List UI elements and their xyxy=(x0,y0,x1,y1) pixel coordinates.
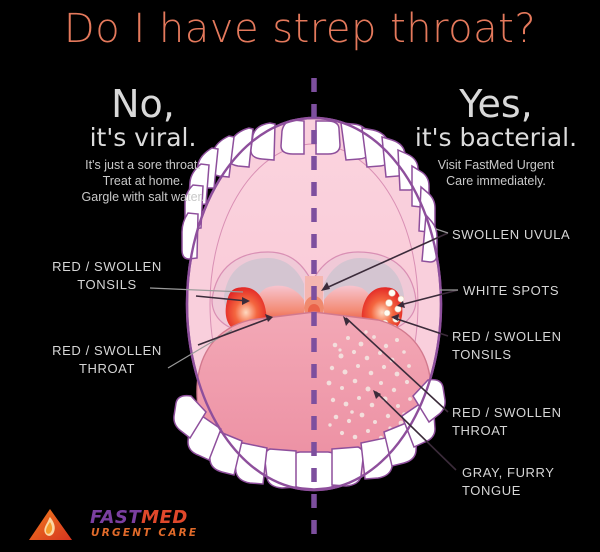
fastmed-tagline: URGENT CARE xyxy=(91,528,198,539)
callout-label-right-tonsils: RED / SWOLLEN TONSILS xyxy=(452,328,600,363)
callout-label-right-throat: RED / SWOLLEN THROAT xyxy=(452,404,600,439)
callout-label-swollen-uvula: SWOLLEN UVULA xyxy=(452,226,600,244)
callout-label-left-tonsils: RED / SWOLLEN TONSILS xyxy=(22,258,192,293)
verdict-viral-detail-1: It's just a sore throat. xyxy=(38,157,248,173)
fastmed-word-med: MED xyxy=(141,507,188,528)
verdict-viral-headline-1: No, xyxy=(38,84,248,124)
callout-label-furry-tongue: GRAY, FURRY TONGUE xyxy=(462,464,600,499)
callout-label-white-spots: WHITE SPOTS xyxy=(463,282,600,300)
fastmed-word-fast: FAST xyxy=(90,507,141,528)
verdict-viral: No, it's viral. It's just a sore throat.… xyxy=(38,84,248,205)
verdict-bacterial-headline-2: it's bacterial. xyxy=(398,124,594,152)
callout-label-left-throat: RED / SWOLLEN THROAT xyxy=(22,342,192,377)
infographic-canvas: Do I have strep throat? xyxy=(0,0,600,552)
verdict-bacterial-detail-2: Care immediately. xyxy=(398,173,594,189)
verdict-bacterial-headline-1: Yes, xyxy=(398,84,594,124)
verdict-viral-detail-3: Gargle with salt water. xyxy=(38,189,248,205)
verdict-viral-headline-2: it's viral. xyxy=(38,124,248,152)
fastmed-triangle-icon xyxy=(28,508,80,542)
verdict-bacterial: Yes, it's bacterial. Visit FastMed Urgen… xyxy=(398,84,594,189)
verdict-viral-detail-2: Treat at home. xyxy=(38,173,248,189)
verdict-bacterial-detail-1: Visit FastMed Urgent xyxy=(398,157,594,173)
fastmed-wordmark: FASTMED xyxy=(90,509,188,527)
